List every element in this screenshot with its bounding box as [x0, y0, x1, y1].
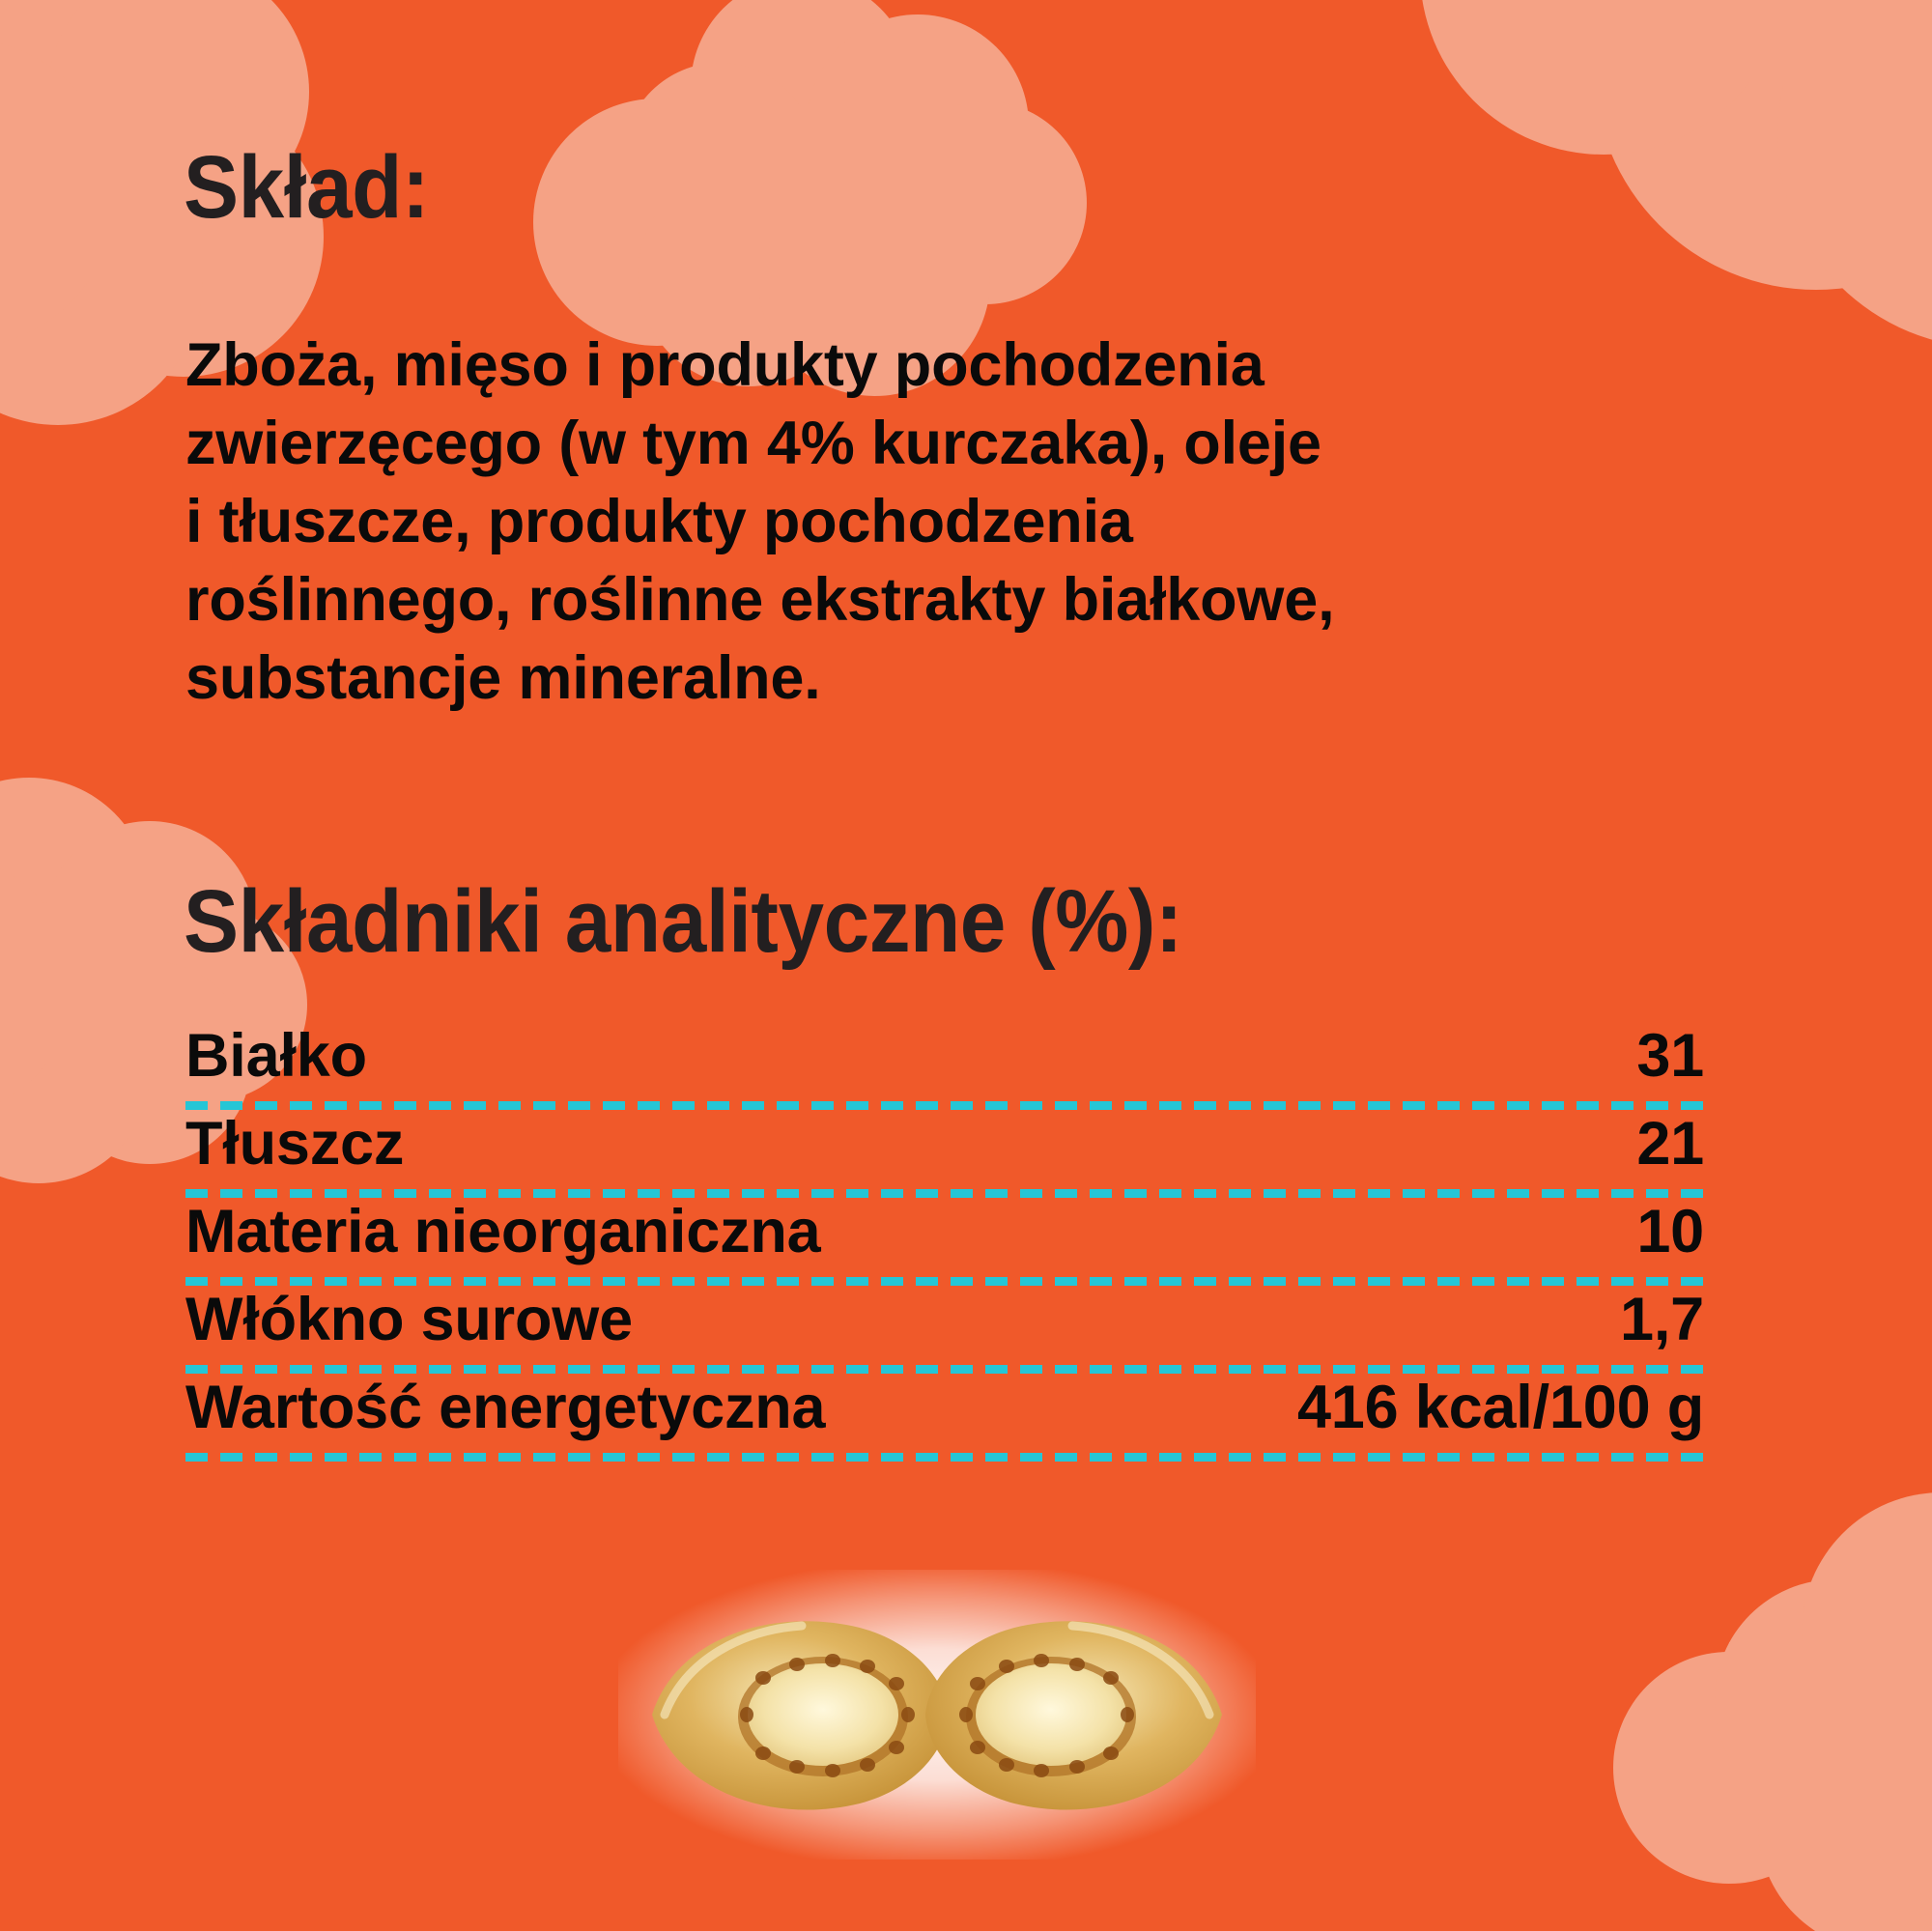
row-divider — [185, 1453, 1704, 1462]
ingredients-text: Zboża, mięso i produkty pochodzenia zwie… — [185, 327, 1557, 718]
analytical-label: Materia nieorganiczna — [185, 1198, 821, 1265]
table-row: Tłuszcz 21 — [185, 1110, 1704, 1198]
analytical-heading: Składniki analityczne (%): — [184, 877, 1182, 966]
table-row: Białko 31 — [185, 1022, 1704, 1110]
kibble-illustration — [618, 1570, 1256, 1860]
analytical-table: Białko 31 Tłuszcz 21 Materia nieorganicz… — [185, 1022, 1704, 1462]
ingredients-heading: Skład: — [184, 143, 429, 232]
ingredients-line: zwierzęcego (w tym 4% kurczaka), oleje — [185, 405, 1557, 483]
analytical-label: Białko — [185, 1022, 367, 1090]
row-divider — [185, 1365, 1704, 1374]
table-row: Materia nieorganiczna 10 — [185, 1198, 1704, 1286]
analytical-label: Tłuszcz — [185, 1110, 404, 1178]
nutrition-label-panel: Skład: Zboża, mięso i produkty pochodzen… — [0, 0, 1932, 1931]
analytical-label: Wartość energetyczna — [185, 1374, 825, 1441]
analytical-label: Włókno surowe — [185, 1286, 633, 1353]
kibble-piece-right — [925, 1621, 1222, 1809]
analytical-value: 1,7 — [1620, 1286, 1704, 1353]
table-row: Włókno surowe 1,7 — [185, 1286, 1704, 1374]
ingredients-line: substancje mineralne. — [185, 639, 1557, 718]
kibble-piece-left — [652, 1621, 949, 1809]
analytical-value: 10 — [1636, 1198, 1704, 1265]
ingredients-line: i tłuszcze, produkty pochodzenia — [185, 483, 1557, 561]
row-divider — [185, 1189, 1704, 1198]
row-divider — [185, 1277, 1704, 1286]
kibble-photo — [618, 1570, 1256, 1860]
ingredients-line: roślinnego, roślinne ekstrakty białkowe, — [185, 561, 1557, 639]
analytical-value: 416 kcal/100 g — [1297, 1374, 1704, 1441]
analytical-value: 31 — [1636, 1022, 1704, 1090]
ingredients-line: Zboża, mięso i produkty pochodzenia — [185, 327, 1557, 405]
row-divider — [185, 1101, 1704, 1110]
table-row: Wartość energetyczna 416 kcal/100 g — [185, 1374, 1704, 1462]
analytical-value: 21 — [1636, 1110, 1704, 1178]
